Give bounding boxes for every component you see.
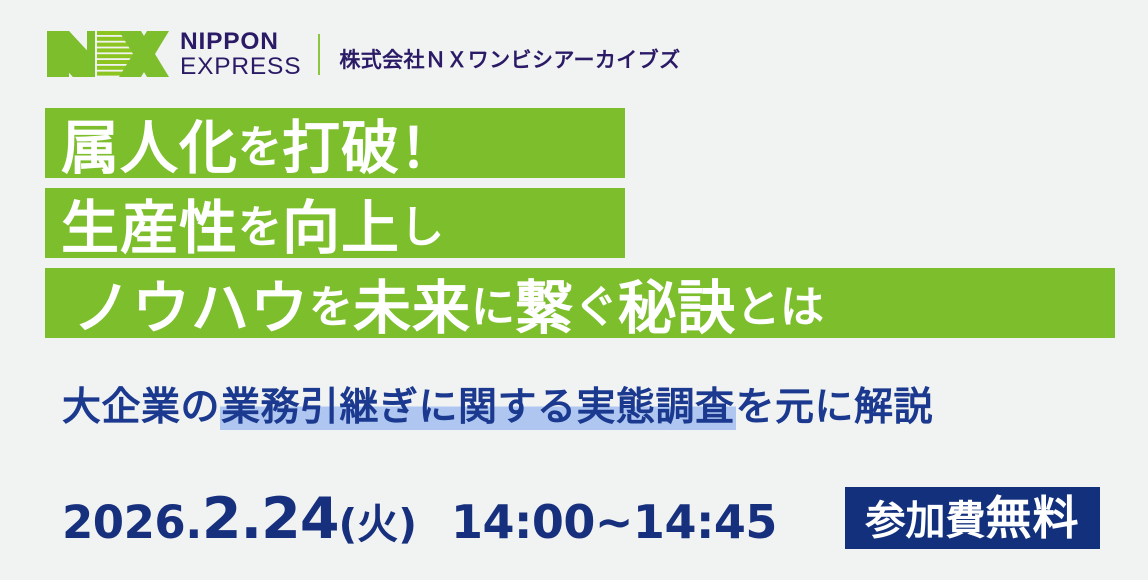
subtitle-highlight: 業務引継ぎに関する実態調査 — [220, 385, 736, 430]
headline-block: 属人化を打破！ 生産性を向上し ノウハウを未来に繋ぐ秘訣とは — [45, 108, 1115, 338]
subtitle-before: 大企業の — [62, 385, 220, 430]
schedule-time: 14:00~14:45 — [451, 495, 777, 549]
subtitle-after: を元に解説 — [736, 385, 934, 430]
headline-line3-particle-3: ぐ — [574, 271, 618, 335]
badge-label: 参加費無料 — [866, 495, 1080, 541]
schedule-day-of-week: (火) — [338, 490, 416, 550]
headline-line1-rest: 打破 — [282, 101, 400, 185]
schedule-year: 2026. — [62, 496, 202, 549]
free-participation-badge: 参加費無料 — [845, 487, 1100, 549]
badge-prefix: 参加費 — [866, 498, 986, 544]
schedule-row: 2026.2.24(火)14:00~14:45 — [62, 486, 777, 552]
badge-emphasis: 無料 — [986, 491, 1080, 545]
headline-line3-particle-2: に — [471, 271, 515, 335]
schedule-day: 2.24 — [202, 486, 339, 552]
headline-line1-mark: ！ — [400, 104, 454, 183]
brand-header: NIPPON EXPRESS 株式会社ＮＸワンビシアーカイブズ — [47, 28, 680, 80]
wordmark-nippon: NIPPON — [180, 29, 301, 54]
headline-line3-c: 繋 — [515, 261, 574, 345]
headline-line2-main: 生産性 — [61, 181, 238, 265]
headline-line3-a: ノウハウ — [73, 261, 309, 345]
headline-line3-particle-1: を — [309, 271, 353, 335]
headline-line1-main: 属人化 — [61, 101, 238, 185]
headline-line2-particle: を — [238, 191, 282, 255]
headline-line2-tail: し — [400, 191, 444, 255]
headline-line-3: ノウハウを未来に繋ぐ秘訣とは — [45, 268, 1115, 338]
webinar-banner: NIPPON EXPRESS 株式会社ＮＸワンビシアーカイブズ 属人化を打破！ … — [0, 0, 1148, 580]
subtitle: 大企業の業務引継ぎに関する実態調査を元に解説 — [62, 384, 933, 433]
wordmark-express: EXPRESS — [180, 54, 301, 79]
headline-line-2: 生産性を向上し — [45, 188, 625, 258]
headline-line-1: 属人化を打破！ — [45, 108, 625, 178]
company-name: 株式会社ＮＸワンビシアーカイブズ — [339, 44, 680, 74]
headline-line3-b: 未来 — [353, 261, 471, 345]
headline-line3-d: 秘訣 — [618, 261, 736, 345]
headline-line1-particle: を — [238, 111, 282, 175]
headline-line3-tail: とは — [736, 271, 824, 335]
nx-wordmark: NIPPON EXPRESS — [180, 29, 301, 79]
logo-divider — [318, 34, 320, 75]
headline-line2-rest: 向上 — [282, 181, 400, 265]
nx-logo-icon — [47, 31, 169, 77]
